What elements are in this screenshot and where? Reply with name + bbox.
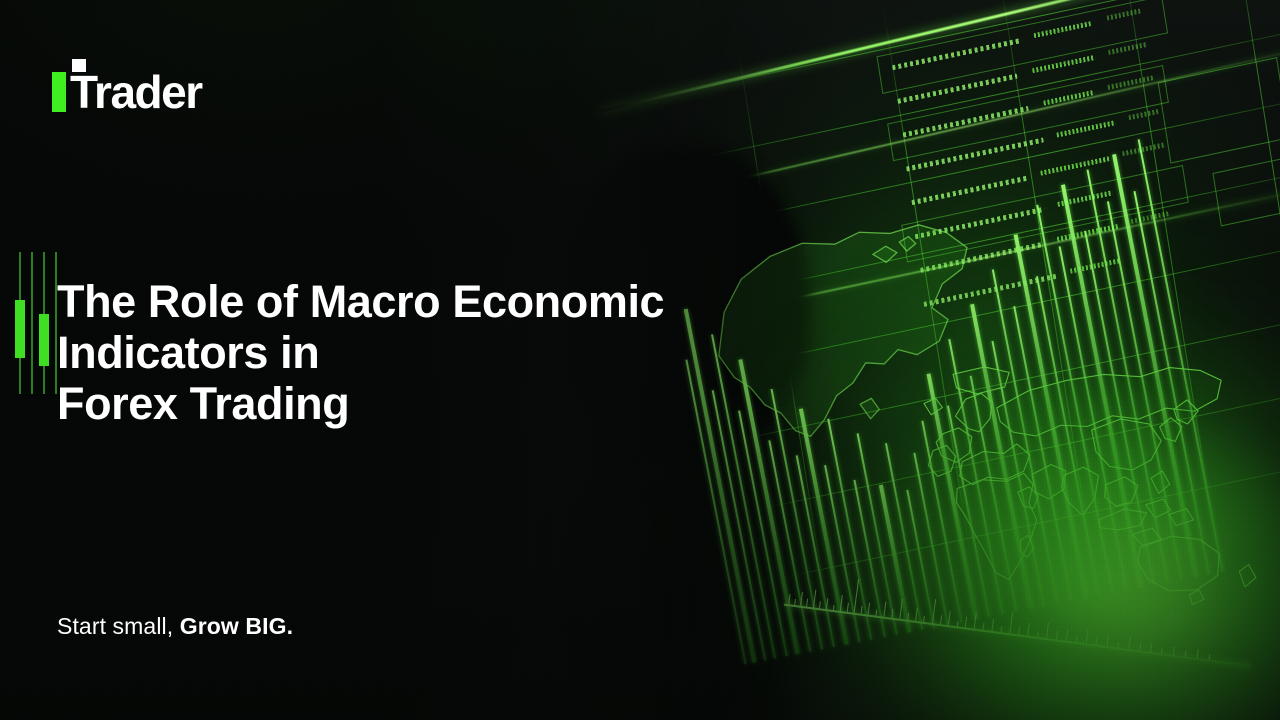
candle-wick-2 xyxy=(31,252,33,394)
candle-body-2 xyxy=(39,314,49,366)
banner-content: Trader The Role of Macro Economic Indica… xyxy=(0,0,1280,720)
candle-body-1 xyxy=(15,300,25,358)
logo-wordmark: Trader xyxy=(70,72,202,112)
tagline-bold-part: Grow BIG. xyxy=(180,613,293,639)
logo-i-glyph xyxy=(52,72,66,112)
brand-tagline: Start small, Grow BIG. xyxy=(57,613,293,640)
itrader-logo[interactable]: Trader xyxy=(52,62,202,112)
logo-i-dot-icon xyxy=(72,59,86,72)
headline-line-2: Indicators in xyxy=(57,327,717,378)
headline-line-3: Forex Trading xyxy=(57,378,717,429)
logo-i-bar-icon xyxy=(52,72,66,112)
tagline-regular-part: Start small, xyxy=(57,613,173,639)
headline-line-1: The Role of Macro Economic xyxy=(57,276,717,327)
page-title: The Role of Macro Economic Indicators in… xyxy=(57,276,717,429)
candlestick-accent-decoration xyxy=(12,252,54,394)
banner-canvas: Trader The Role of Macro Economic Indica… xyxy=(0,0,1280,720)
